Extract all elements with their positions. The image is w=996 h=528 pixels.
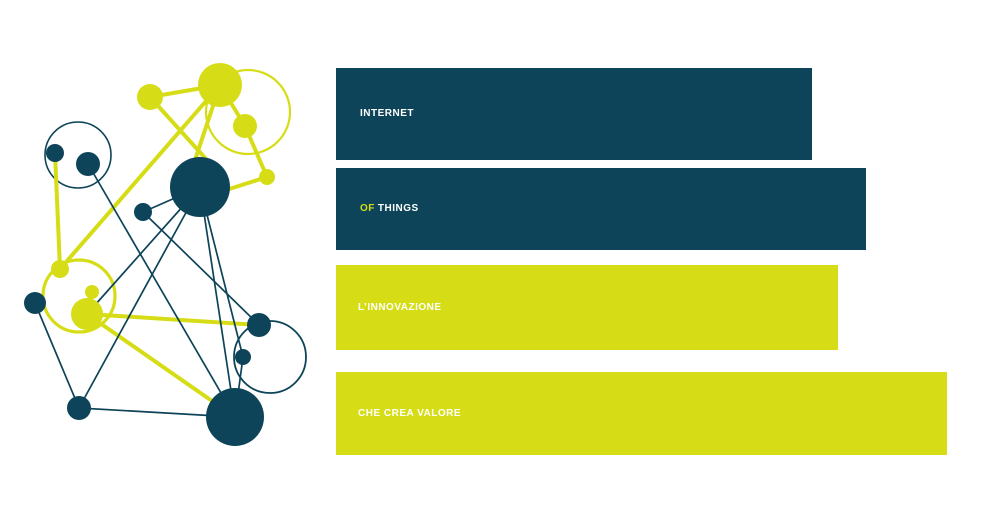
graph-node [233, 114, 257, 138]
graph-node [71, 298, 103, 330]
graph-node [170, 157, 230, 217]
graph-node [24, 292, 46, 314]
graph-node [134, 203, 152, 221]
headline-block: INTERNET OFTHINGS L’INNOVAZIONE CHE CREA… [336, 68, 976, 460]
headline-text-of: OF [360, 204, 375, 214]
graph-edge [55, 153, 60, 269]
poster-canvas: INTERNET OFTHINGS L’INNOVAZIONE CHE CREA… [0, 0, 996, 528]
headline-bar-internet: INTERNET [336, 68, 812, 160]
headline-text-things: THINGS [378, 204, 419, 214]
subtitle-bar-valore: CHE CREA VALORE [336, 372, 947, 455]
graph-node [85, 285, 99, 299]
graph-node [235, 349, 251, 365]
graph-node [206, 388, 264, 446]
graph-node [51, 260, 69, 278]
graph-node [247, 313, 271, 337]
graph-node [46, 144, 64, 162]
subtitle-text-valore: CHE CREA VALORE [358, 409, 461, 419]
graph-nodes [24, 63, 275, 446]
network-graph-illustration [0, 0, 330, 528]
subtitle-text-innovazione: L’INNOVAZIONE [358, 303, 442, 313]
graph-node [67, 396, 91, 420]
graph-node [198, 63, 242, 107]
graph-node [137, 84, 163, 110]
subtitle-bar-innovazione: L’INNOVAZIONE [336, 265, 838, 350]
graph-ring-outlines [43, 70, 306, 393]
headline-text-internet: INTERNET [360, 109, 414, 119]
headline-bar-of-things: OFTHINGS [336, 168, 866, 250]
graph-node [259, 169, 275, 185]
graph-edge [143, 212, 259, 325]
graph-edges [35, 85, 267, 417]
graph-node [76, 152, 100, 176]
